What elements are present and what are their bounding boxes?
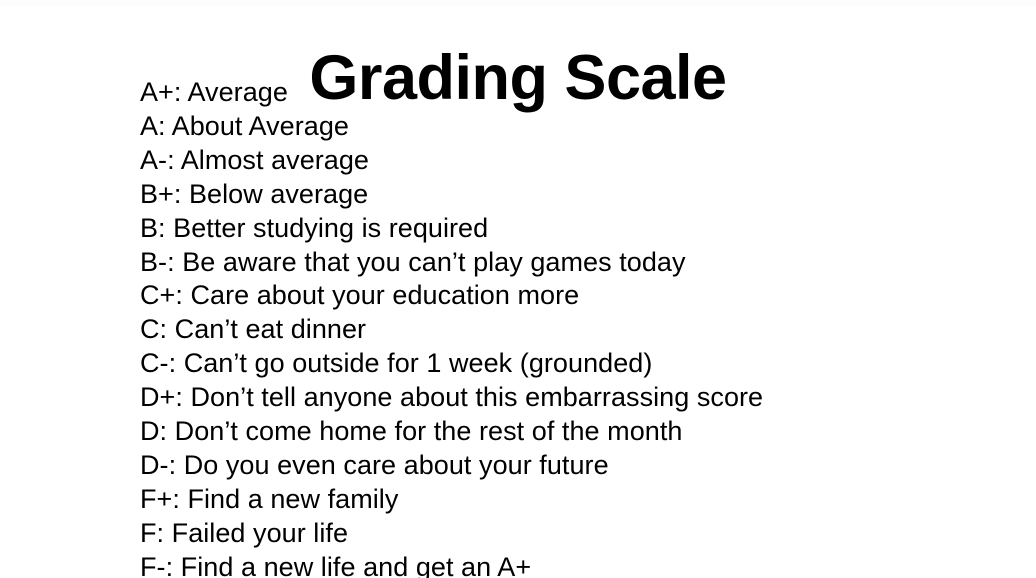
- list-item: A-: Almost average: [140, 144, 1020, 178]
- list-item: D+: Don’t tell anyone about this embarra…: [140, 381, 1020, 415]
- list-item: B: Better studying is required: [140, 212, 1020, 246]
- list-item: D-: Do you even care about your future: [140, 449, 1020, 483]
- list-item: F: Failed your life: [140, 517, 1020, 551]
- list-item: A+: Average: [140, 76, 1020, 110]
- list-item: F-: Find a new life and get an A+: [140, 551, 1020, 578]
- list-item: F+: Find a new family: [140, 483, 1020, 517]
- top-edge-band: [0, 0, 1036, 6]
- list-item: C+: Care about your education more: [140, 279, 1020, 313]
- list-item: C-: Can’t go outside for 1 week (grounde…: [140, 347, 1020, 381]
- list-item: B+: Below average: [140, 178, 1020, 212]
- list-item: B-: Be aware that you can’t play games t…: [140, 246, 1020, 280]
- slide-canvas: Grading Scale A+: Average A: About Avera…: [0, 0, 1036, 578]
- list-item: A: About Average: [140, 110, 1020, 144]
- list-item: C: Can’t eat dinner: [140, 313, 1020, 347]
- list-item: D: Don’t come home for the rest of the m…: [140, 415, 1020, 449]
- grading-scale-list: A+: Average A: About Average A-: Almost …: [140, 76, 1020, 578]
